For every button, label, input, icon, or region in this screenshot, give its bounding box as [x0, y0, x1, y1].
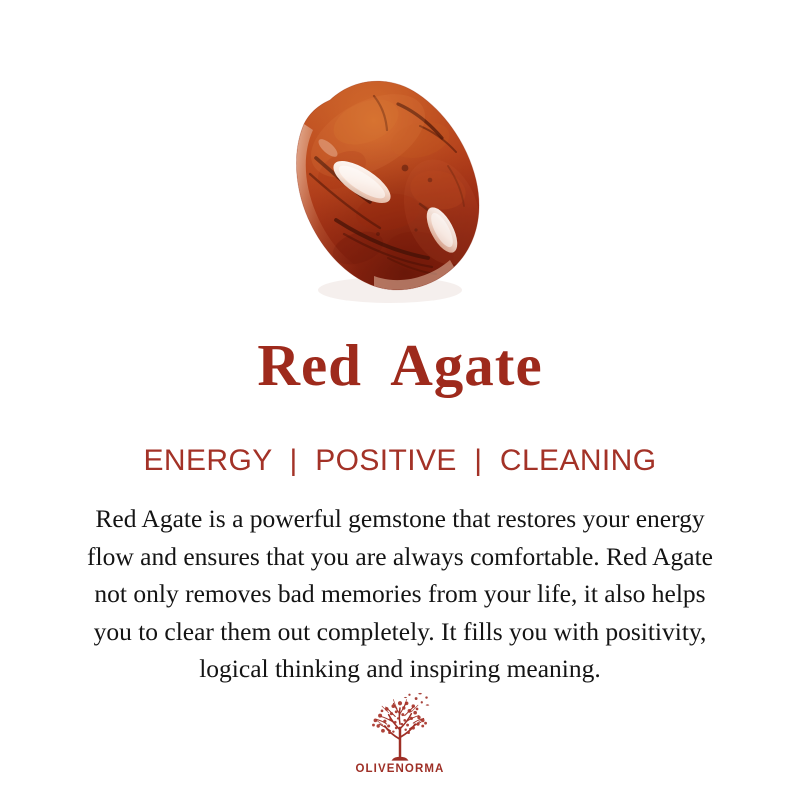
page-title: Red Agate [0, 333, 800, 398]
tree-icon [362, 690, 438, 762]
description-line: not only removes bad memories from your … [18, 575, 782, 613]
description-line: Red Agate is a powerful gemstone that re… [18, 500, 782, 538]
red-agate-info-card: Red Agate ENERGY | POSITIVE | CLEANING R… [0, 0, 800, 800]
red-agate-tumbled-stone-image [270, 62, 530, 307]
description-line: flow and ensures that you are always com… [18, 538, 782, 576]
keyword-line: ENERGY | POSITIVE | CLEANING [0, 443, 800, 479]
brand-logo: OLIVENORMA [0, 690, 800, 790]
description-line: you to clear them out completely. It fil… [18, 613, 782, 651]
description-line: logical thinking and inspiring meaning. [18, 650, 782, 688]
description-text: Red Agate is a powerful gemstone that re… [18, 500, 782, 688]
brand-name: OLIVENORMA [356, 763, 445, 775]
product-image-area [0, 0, 800, 320]
